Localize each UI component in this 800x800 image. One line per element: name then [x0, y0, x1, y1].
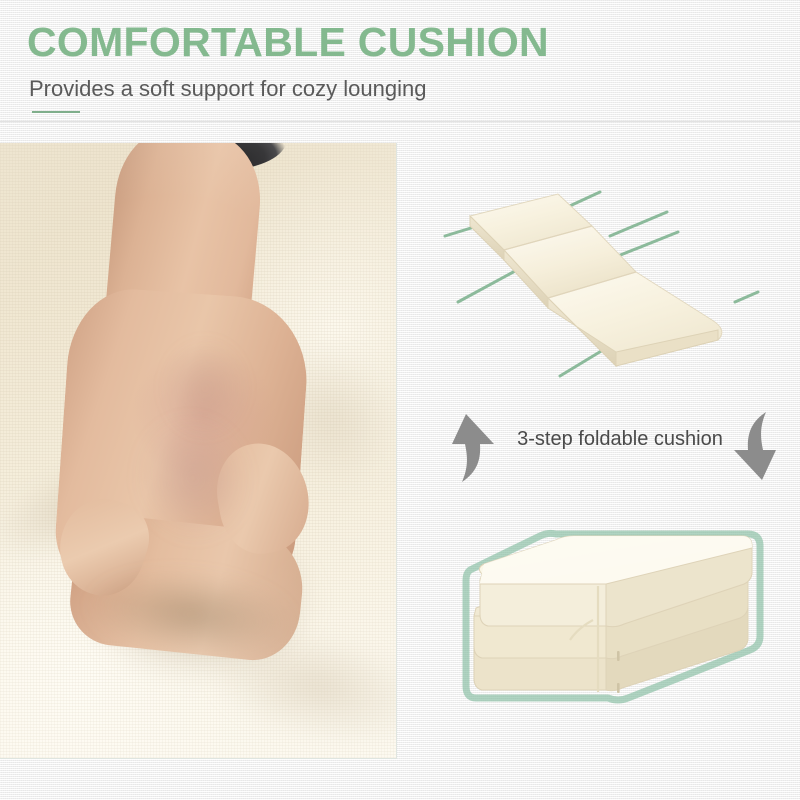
header-divider: [0, 121, 800, 122]
foldable-callout: 3-step foldable cushion: [430, 404, 800, 488]
photo-vignette: [0, 143, 396, 758]
page-title: COMFORTABLE CUSHION: [27, 22, 549, 63]
folded-cushion-diagram: [448, 520, 793, 715]
product-feature-page: COMFORTABLE CUSHION Provides a soft supp…: [0, 0, 800, 800]
unfolded-cushion-diagram: [440, 180, 790, 410]
accent-underline: [32, 111, 80, 113]
arrow-down-curved-icon: [722, 408, 796, 486]
product-photo: [0, 143, 397, 759]
callout-label: 3-step foldable cushion: [500, 428, 740, 451]
arrow-up-curved-icon: [432, 408, 506, 486]
page-header: COMFORTABLE CUSHION Provides a soft supp…: [0, 0, 800, 122]
page-subtitle: Provides a soft support for cozy loungin…: [29, 78, 426, 100]
